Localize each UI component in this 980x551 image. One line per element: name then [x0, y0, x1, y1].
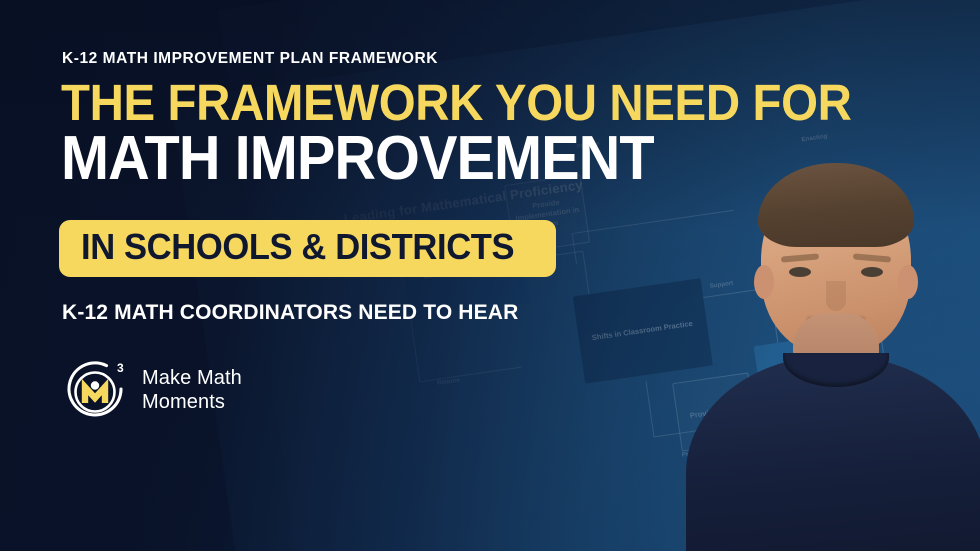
presenter-eye-left	[789, 267, 811, 277]
diagram-box: Provide Tasks	[671, 373, 757, 452]
presenter-ear-left	[754, 265, 774, 299]
presenter-nose	[826, 281, 846, 311]
highlight-banner-text: IN SCHOOLS & DISTRICTS	[81, 229, 514, 265]
connector-label: Enacting	[801, 133, 828, 144]
presenter-sweater	[686, 355, 980, 551]
presenter-neck	[793, 313, 879, 385]
subheadline-text: K-12 MATH COORDINATORS NEED TO HEAR	[62, 301, 518, 325]
headline-line-2: MATH IMPROVEMENT	[61, 128, 654, 190]
connector-label: Require	[436, 376, 460, 386]
diagram-box: Shifts in Classroom Practice	[572, 278, 712, 383]
diagram-box: Student Data	[916, 434, 980, 518]
brand-logo-wordmark: Make Math Moments	[142, 367, 242, 414]
connector-line	[572, 210, 738, 264]
connector-label: Support	[709, 279, 733, 289]
svg-text:3: 3	[117, 361, 124, 375]
brand-name-line-1: Make Math	[142, 367, 242, 391]
brand-name-line-2: Moments	[142, 391, 242, 415]
eyebrow-text: K-12 MATH IMPROVEMENT PLAN FRAMEWORK	[62, 50, 438, 68]
connector-line	[668, 287, 778, 358]
make-math-moments-logo-icon: 3	[62, 358, 128, 424]
headline-line-1: THE FRAMEWORK YOU NEED FOR	[61, 77, 852, 128]
presenter-ear-right	[898, 265, 918, 299]
connector-line	[645, 365, 764, 437]
thumbnail-canvas: Leading for Mathematical Proficiency Mat…	[0, 0, 980, 551]
brand-logo: 3 Make Math Moments	[62, 358, 242, 424]
presenter-head	[761, 169, 911, 355]
presenter-mouth	[807, 319, 865, 334]
presenter-brow-left	[781, 253, 819, 262]
presenter-eye-right	[861, 267, 883, 277]
connector-label: Promote	[681, 448, 707, 459]
presenter-brow-right	[853, 253, 891, 262]
connector-line	[744, 328, 892, 428]
highlight-banner: IN SCHOOLS & DISTRICTS	[59, 220, 556, 277]
presenter-photo	[686, 173, 980, 551]
diagram-box: Student Coming Cycles	[753, 329, 884, 427]
presenter-hair	[758, 163, 914, 247]
